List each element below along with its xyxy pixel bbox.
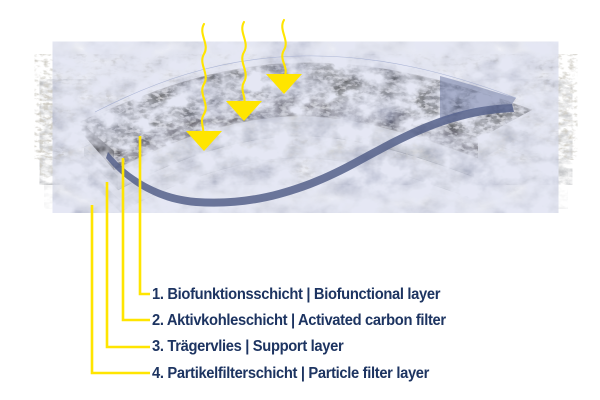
diagram-canvas [0, 0, 600, 400]
